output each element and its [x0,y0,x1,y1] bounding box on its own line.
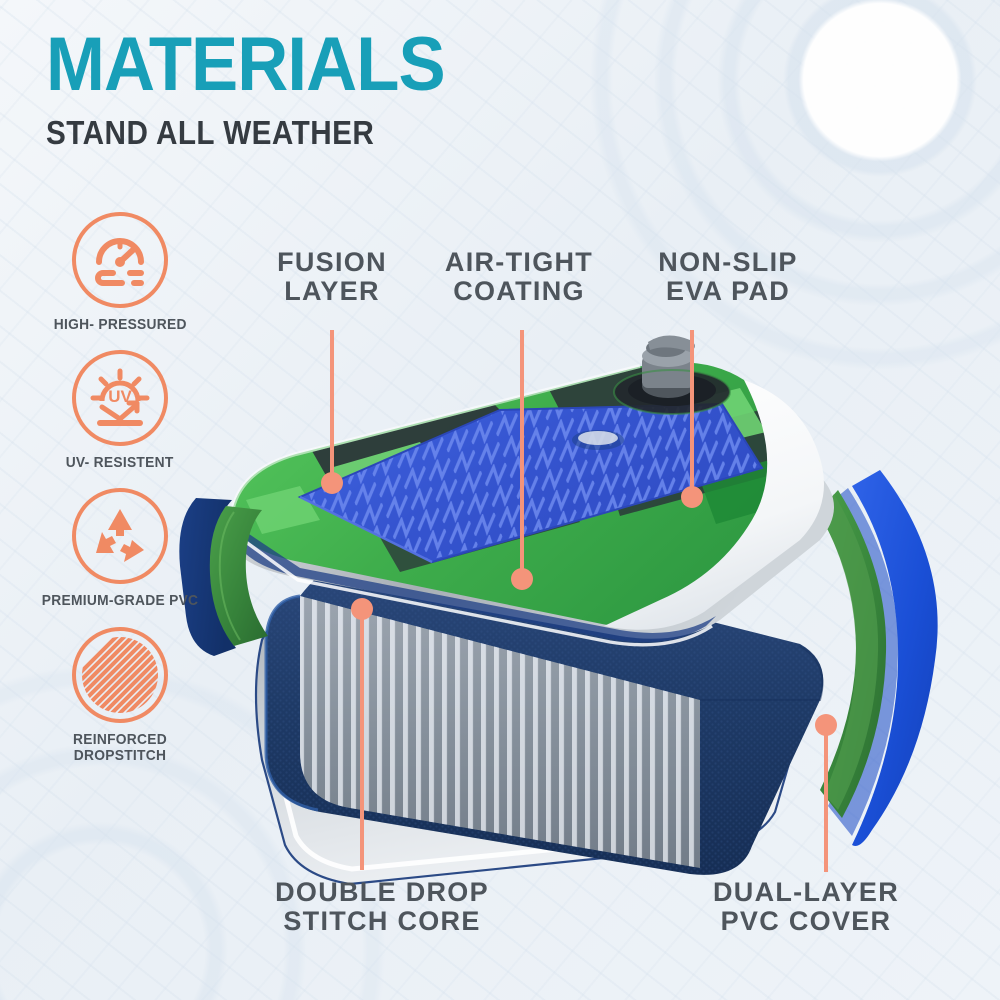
feature-label: UV- RESISTENT [66,455,174,471]
callout-non-slip-eva-pad: NON-SLIP EVA PAD [638,248,818,306]
callout-double-drop-stitch-core: DOUBLE DROP STITCH CORE [258,878,506,936]
feature-badge [72,627,168,723]
uv-sun-icon: UV [89,367,151,429]
leader-double-drop-stitch-core [352,598,372,870]
feature-badge [72,488,168,584]
feature-item-high-pressured: HIGH- PRESSURED [34,212,206,333]
leader-non-slip-eva-pad [682,330,702,510]
feature-badge [72,212,168,308]
feature-item-uv-resistent: UV UV- RESISTENT [34,350,206,471]
leader-air-tight-coating [512,330,532,590]
leader-dual-layer-pvc-cover [816,714,836,872]
pressure-gauge-icon [89,229,151,291]
feature-list: HIGH- PRESSURED UV UV- RESISTENT [34,212,206,764]
dropstitch-hatch-icon [79,634,161,716]
feature-label: HIGH- PRESSURED [54,317,187,333]
feature-item-reinforced-dropstitch: REINFORCED DROPSTITCH [34,627,206,764]
callout-dual-layer-pvc-cover: DUAL-LAYER PVC COVER [690,878,922,936]
feature-badge: UV [72,350,168,446]
callout-air-tight-coating: AIR-TIGHT COATING [424,248,614,306]
feature-item-premium-grade-pvc: PREMIUM-GRADE PVC [34,488,206,609]
leader-fusion-layer [322,330,342,496]
callout-fusion-layer: FUSION LAYER [258,248,406,306]
feature-label: PREMIUM-GRADE PVC [42,593,199,609]
recycle-icon [88,504,152,568]
feature-label: REINFORCED DROPSTITCH [41,732,199,764]
